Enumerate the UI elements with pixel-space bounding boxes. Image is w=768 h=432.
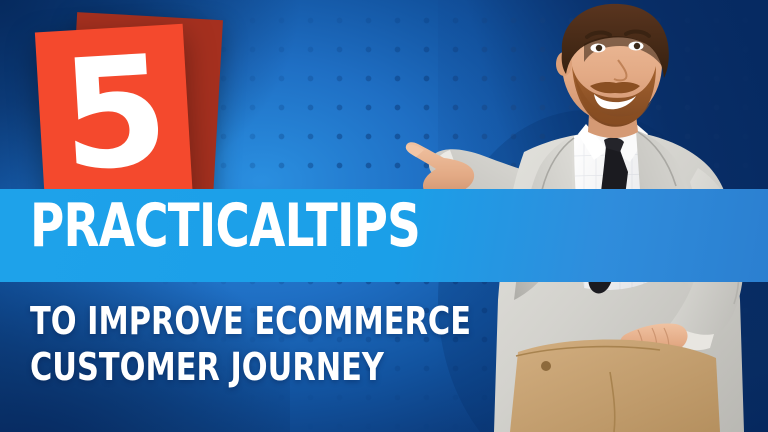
number-card-front: 5 (35, 24, 193, 210)
number-badge-value: 5 (58, 49, 169, 180)
thumbnail-canvas: 5 (0, 0, 768, 432)
subheadline-line-2: CUSTOMER JOURNEY (30, 344, 446, 390)
subheadline: TO IMPROVE ECOMMERCE CUSTOMER JOURNEY (30, 298, 446, 391)
headline-text: PRACTICALTIPS (30, 196, 576, 256)
subheadline-line-1: TO IMPROVE ECOMMERCE (30, 298, 446, 344)
